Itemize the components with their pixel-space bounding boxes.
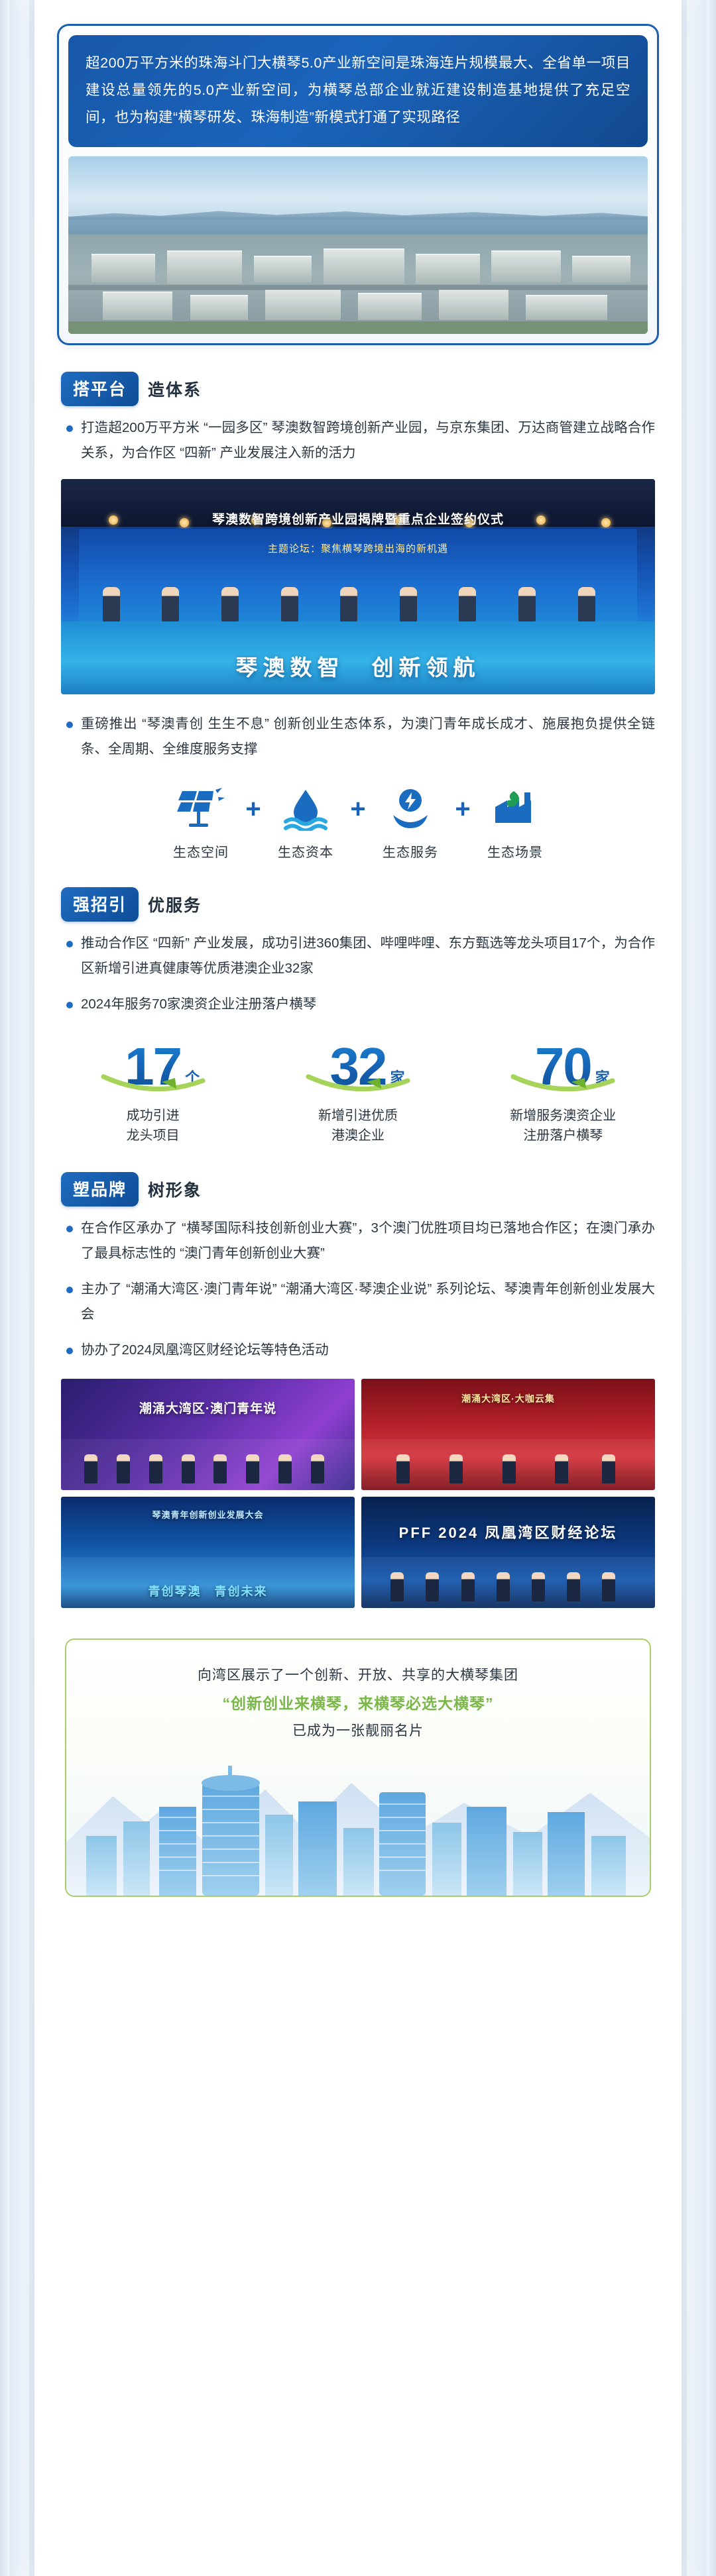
photo-person [578, 587, 595, 621]
gallery-caption-2: 潮涌大湾区·大咖云集 [361, 1392, 655, 1405]
photo-building [572, 256, 630, 282]
photo-person [449, 1454, 463, 1483]
eco-label-scene: 生态场景 [479, 841, 551, 861]
stat-number-wrap-1: 17 个 [125, 1037, 181, 1097]
photo-building [254, 256, 312, 282]
photo-person [602, 1454, 615, 1483]
city-skyline-illustration [66, 1743, 651, 1896]
section-badge-1: 搭平台 [61, 372, 139, 406]
footer-spacer [34, 1897, 682, 1927]
photo-building [91, 254, 155, 282]
photo-building [491, 250, 561, 282]
swoosh-arrow-icon [90, 1065, 216, 1095]
eco-item-scene: 生态场景 [479, 784, 551, 861]
section-subtitle-1: 造体系 [148, 377, 202, 401]
photo-person [213, 1454, 227, 1483]
photo-person [459, 587, 476, 621]
stat-label-2: 新增引进优质 港澳企业 [278, 1106, 438, 1146]
photo-person [182, 1454, 195, 1483]
stat-label-3: 新增服务澳资企业 注册落户横琴 [483, 1106, 642, 1146]
hero-card: 超200万平方米的珠海斗门大横琴5.0产业新空间是珠海连片规模最大、全省单一项目… [57, 24, 659, 345]
list-item: 在合作区承办了 “横琴国际科技创新创业大赛”，3个澳门优胜项目均已落地合作区；在… [64, 1216, 655, 1266]
eco-item-service: 生态服务 [375, 784, 446, 861]
photo-building [526, 295, 607, 320]
gallery-caption-3-bottom: 青创琴澳 青创未来 [61, 1582, 355, 1599]
eco-label-space: 生态空间 [165, 841, 237, 861]
photo-person [461, 1572, 475, 1601]
photo-person [396, 1454, 410, 1483]
page-rail-right-inner [687, 0, 707, 2576]
photo-person [246, 1454, 259, 1483]
aerial-industrial-park-photo [68, 156, 648, 334]
forum-photo-3: 琴澳青年创新创业发展大会 青创琴澳 青创未来 [61, 1497, 355, 1608]
photo-greenbelt [68, 321, 648, 334]
section-badge-3: 塑品牌 [61, 1172, 139, 1207]
gallery-caption-1: 潮涌大湾区·澳门青年说 [61, 1399, 355, 1417]
closing-line-2: “创新创业来横琴，来横琴必选大横琴” [84, 1689, 632, 1718]
section-1-bullets-2: 重磅推出 “琴澳青创 生生不息” 创新创业生态体系，为澳门青年成长成才、施展抱负… [64, 712, 655, 762]
forum-photo-2: 潮涌大湾区·大咖云集 [361, 1379, 655, 1490]
photo-person [567, 1572, 580, 1601]
photo-person [103, 587, 120, 621]
stat-number-wrap-3: 70 家 [535, 1037, 591, 1097]
photo-person [390, 1572, 404, 1601]
swoosh-arrow-icon [500, 1065, 626, 1095]
forum-photo-1: 潮涌大湾区·澳门青年说 [61, 1379, 355, 1490]
photo-building [358, 293, 422, 319]
photo-building [190, 295, 248, 320]
closing-line-3: 已成为一张靓丽名片 [84, 1718, 632, 1744]
photo-person [602, 1572, 615, 1601]
gallery-caption-4: PFF 2024 凤凰湾区财经论坛 [361, 1521, 655, 1542]
photo-road [68, 285, 648, 290]
photo-person [532, 1572, 545, 1601]
section-header-1: 搭平台 造体系 [61, 372, 682, 406]
factory-icon [479, 784, 551, 833]
photo-person [278, 1454, 292, 1483]
photo-gallery: 潮涌大湾区·澳门青年说 潮涌大湾区·大咖云集 [61, 1379, 655, 1608]
gallery-caption-3: 琴澳青年创新创业发展大会 [61, 1508, 355, 1521]
photo-person [117, 1454, 130, 1483]
list-item: 推动合作区 “四新” 产业发展，成功引进360集团、哔哩哔哩、东方甄选等龙头项目… [64, 931, 655, 981]
page-rail-left-inner [9, 0, 29, 2576]
eco-label-capital: 生态资本 [270, 841, 341, 861]
section-subtitle-3: 树形象 [148, 1177, 202, 1201]
section-header-3: 塑品牌 树形象 [61, 1172, 682, 1207]
closing-line-1: 向湾区展示了一个创新、开放、共享的大横琴集团 [84, 1662, 632, 1689]
photo-building [167, 250, 243, 284]
photo-person [281, 587, 298, 621]
section-1-bullets: 打造超200万平方米 “一园多区” 琴澳数智跨境创新产业园，与京东集团、万达商管… [64, 415, 655, 466]
photo-building [416, 254, 479, 284]
plus-separator-2: + [347, 784, 369, 833]
stat-label-1: 成功引进 龙头项目 [74, 1106, 233, 1146]
photo-person [497, 1572, 510, 1601]
photo-person [84, 1454, 97, 1483]
section-subtitle-2: 优服务 [148, 892, 202, 916]
list-item: 2024年服务70家澳资企业注册落户横琴 [64, 992, 655, 1017]
eco-label-service: 生态服务 [375, 841, 446, 861]
section-2-bullets: 推动合作区 “四新” 产业发展，成功引进360集团、哔哩哔哩、东方甄选等龙头项目… [64, 931, 655, 1017]
section-3-bullets: 在合作区承办了 “横琴国际科技创新创业大赛”，3个澳门优胜项目均已落地合作区；在… [64, 1216, 655, 1363]
photo-building [324, 248, 404, 284]
section-badge-2: 强招引 [61, 887, 139, 922]
photo-building [103, 292, 172, 320]
eco-system-row: 生态空间 + 生态资本 + [54, 784, 662, 861]
photo-person [555, 1454, 568, 1483]
plus-separator-1: + [242, 784, 265, 833]
photo-person [221, 587, 239, 621]
plus-separator-3: + [451, 784, 474, 833]
hand-bolt-icon [375, 784, 446, 833]
photo-person [311, 1454, 324, 1483]
eco-item-capital: 生态资本 [270, 784, 341, 861]
photo-person [340, 587, 357, 621]
poster-content: 超200万平方米的珠海斗门大横琴5.0产业新空间是珠海连片规模最大、全省单一项目… [34, 24, 682, 1927]
photo-building [439, 290, 508, 320]
stat-card-2: 32 家 新增引进优质 港澳企业 [278, 1037, 438, 1146]
photo-building [265, 290, 341, 320]
statistics-row: 17 个 成功引进 龙头项目 32 家 [50, 1037, 666, 1146]
photo-person [162, 587, 179, 621]
photo-person [149, 1454, 162, 1483]
stat-card-3: 70 家 新增服务澳资企业 注册落户横琴 [483, 1037, 642, 1146]
swoosh-arrow-icon [295, 1065, 421, 1095]
conference-screen-subtitle: 主题论坛：聚焦横琴跨境出海的新机遇 [61, 541, 655, 555]
stat-number-wrap-2: 32 家 [329, 1037, 386, 1097]
conference-photo-wrap: 琴澳数智跨境创新产业园揭牌暨重点企业签约仪式 主题论坛：聚焦横琴跨境出海的新机遇… [61, 479, 655, 694]
closing-card: 向湾区展示了一个创新、开放、共享的大横琴集团 “创新创业来横琴，来横琴必选大横琴… [65, 1638, 651, 1897]
page-rail-right [707, 0, 716, 2576]
water-drop-icon [270, 784, 341, 833]
eco-item-space: 生态空间 [165, 784, 237, 861]
solar-panel-icon [165, 784, 237, 833]
photo-person [426, 1572, 439, 1601]
list-item: 主办了 “潮涌大湾区·澳门青年说” “潮涌大湾区·琴澳企业说” 系列论坛、琴澳青… [64, 1277, 655, 1327]
conference-screen-title: 琴澳数智跨境创新产业园揭牌暨重点企业签约仪式 [61, 510, 655, 527]
section-header-2: 强招引 优服务 [61, 887, 682, 922]
photo-person [400, 587, 417, 621]
list-item: 协办了2024凤凰湾区财经论坛等特色活动 [64, 1338, 655, 1363]
hero-quote-text: 超200万平方米的珠海斗门大横琴5.0产业新空间是珠海连片规模最大、全省单一项目… [68, 35, 648, 147]
poster-sheet: 超200万平方米的珠海斗门大横琴5.0产业新空间是珠海连片规模最大、全省单一项目… [34, 0, 682, 2576]
photo-person [503, 1454, 516, 1483]
list-item: 打造超200万平方米 “一园多区” 琴澳数智跨境创新产业园，与京东集团、万达商管… [64, 415, 655, 466]
list-item: 重磅推出 “琴澳青创 生生不息” 创新创业生态体系，为澳门青年成长成才、施展抱负… [64, 712, 655, 762]
forum-photo-4: PFF 2024 凤凰湾区财经论坛 [361, 1497, 655, 1608]
photo-sky [68, 156, 648, 217]
stat-card-1: 17 个 成功引进 龙头项目 [74, 1037, 233, 1146]
conference-headline-overlay: 琴澳数智 创新领航 [61, 650, 655, 682]
photo-person [518, 587, 536, 621]
page-rail-left [0, 0, 9, 2576]
conference-signing-ceremony-photo: 琴澳数智跨境创新产业园揭牌暨重点企业签约仪式 主题论坛：聚焦横琴跨境出海的新机遇… [61, 479, 655, 694]
